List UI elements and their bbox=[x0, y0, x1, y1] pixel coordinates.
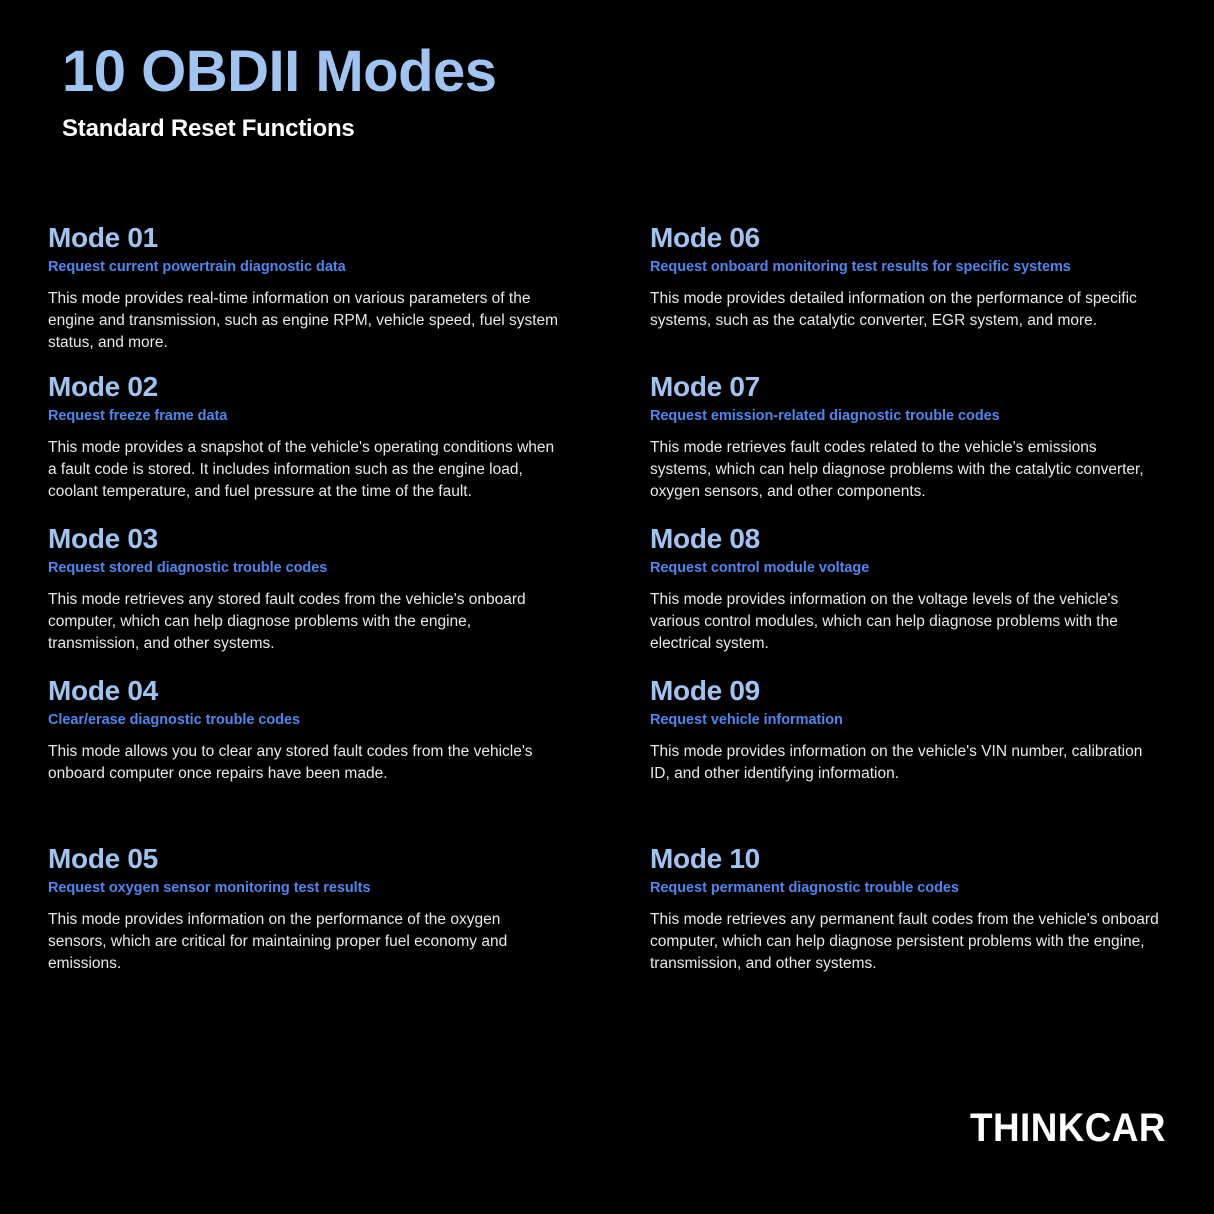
thinkcar-logo: THINKCAR bbox=[970, 1108, 1166, 1148]
mode-title: Mode 04 bbox=[48, 675, 568, 707]
mode-title: Mode 08 bbox=[650, 523, 1170, 555]
mode-description: This mode provides detailed information … bbox=[650, 288, 1162, 332]
mode-subtitle: Clear/erase diagnostic trouble codes bbox=[48, 711, 568, 729]
mode-description: This mode allows you to clear any stored… bbox=[48, 741, 560, 785]
mode-description: This mode provides information on the ve… bbox=[650, 741, 1162, 785]
mode-title: Mode 05 bbox=[48, 843, 568, 875]
mode-title: Mode 02 bbox=[48, 371, 568, 403]
mode-block: Mode 10Request permanent diagnostic trou… bbox=[650, 843, 1170, 975]
mode-title: Mode 09 bbox=[650, 675, 1170, 707]
mode-subtitle: Request control module voltage bbox=[650, 559, 1170, 577]
mode-block: Mode 09Request vehicle informationThis m… bbox=[650, 675, 1170, 785]
mode-subtitle: Request stored diagnostic trouble codes bbox=[48, 559, 568, 577]
mode-description: This mode provides a snapshot of the veh… bbox=[48, 437, 560, 503]
page-subtitle: Standard Reset Functions bbox=[62, 115, 962, 144]
mode-block: Mode 03Request stored diagnostic trouble… bbox=[48, 523, 568, 655]
mode-block: Mode 05Request oxygen sensor monitoring … bbox=[48, 843, 568, 975]
mode-subtitle: Request permanent diagnostic trouble cod… bbox=[650, 879, 1170, 897]
mode-description: This mode retrieves any stored fault cod… bbox=[48, 589, 560, 655]
mode-subtitle: Request oxygen sensor monitoring test re… bbox=[48, 879, 568, 897]
mode-block: Mode 01Request current powertrain diagno… bbox=[48, 222, 568, 354]
mode-subtitle: Request vehicle information bbox=[650, 711, 1170, 729]
mode-block: Mode 02Request freeze frame dataThis mod… bbox=[48, 371, 568, 503]
mode-subtitle: Request emission-related diagnostic trou… bbox=[650, 407, 1170, 425]
mode-block: Mode 07Request emission-related diagnost… bbox=[650, 371, 1170, 503]
mode-block: Mode 06Request onboard monitoring test r… bbox=[650, 222, 1170, 332]
infographic-page: 10 OBDII Modes Standard Reset Functions … bbox=[0, 0, 1214, 1214]
mode-block: Mode 04Clear/erase diagnostic trouble co… bbox=[48, 675, 568, 785]
mode-title: Mode 03 bbox=[48, 523, 568, 555]
mode-block: Mode 08Request control module voltageThi… bbox=[650, 523, 1170, 655]
mode-title: Mode 01 bbox=[48, 222, 568, 254]
page-header: 10 OBDII Modes Standard Reset Functions bbox=[62, 42, 962, 144]
page-title: 10 OBDII Modes bbox=[62, 42, 962, 103]
mode-description: This mode retrieves any permanent fault … bbox=[650, 909, 1162, 975]
mode-subtitle: Request current powertrain diagnostic da… bbox=[48, 258, 568, 276]
mode-description: This mode provides real-time information… bbox=[48, 288, 560, 354]
mode-title: Mode 10 bbox=[650, 843, 1170, 875]
mode-description: This mode provides information on the vo… bbox=[650, 589, 1162, 655]
mode-title: Mode 07 bbox=[650, 371, 1170, 403]
modes-grid: Mode 01Request current powertrain diagno… bbox=[0, 206, 1214, 996]
mode-subtitle: Request freeze frame data bbox=[48, 407, 568, 425]
mode-description: This mode provides information on the pe… bbox=[48, 909, 560, 975]
mode-subtitle: Request onboard monitoring test results … bbox=[650, 258, 1170, 276]
mode-description: This mode retrieves fault codes related … bbox=[650, 437, 1162, 503]
mode-title: Mode 06 bbox=[650, 222, 1170, 254]
